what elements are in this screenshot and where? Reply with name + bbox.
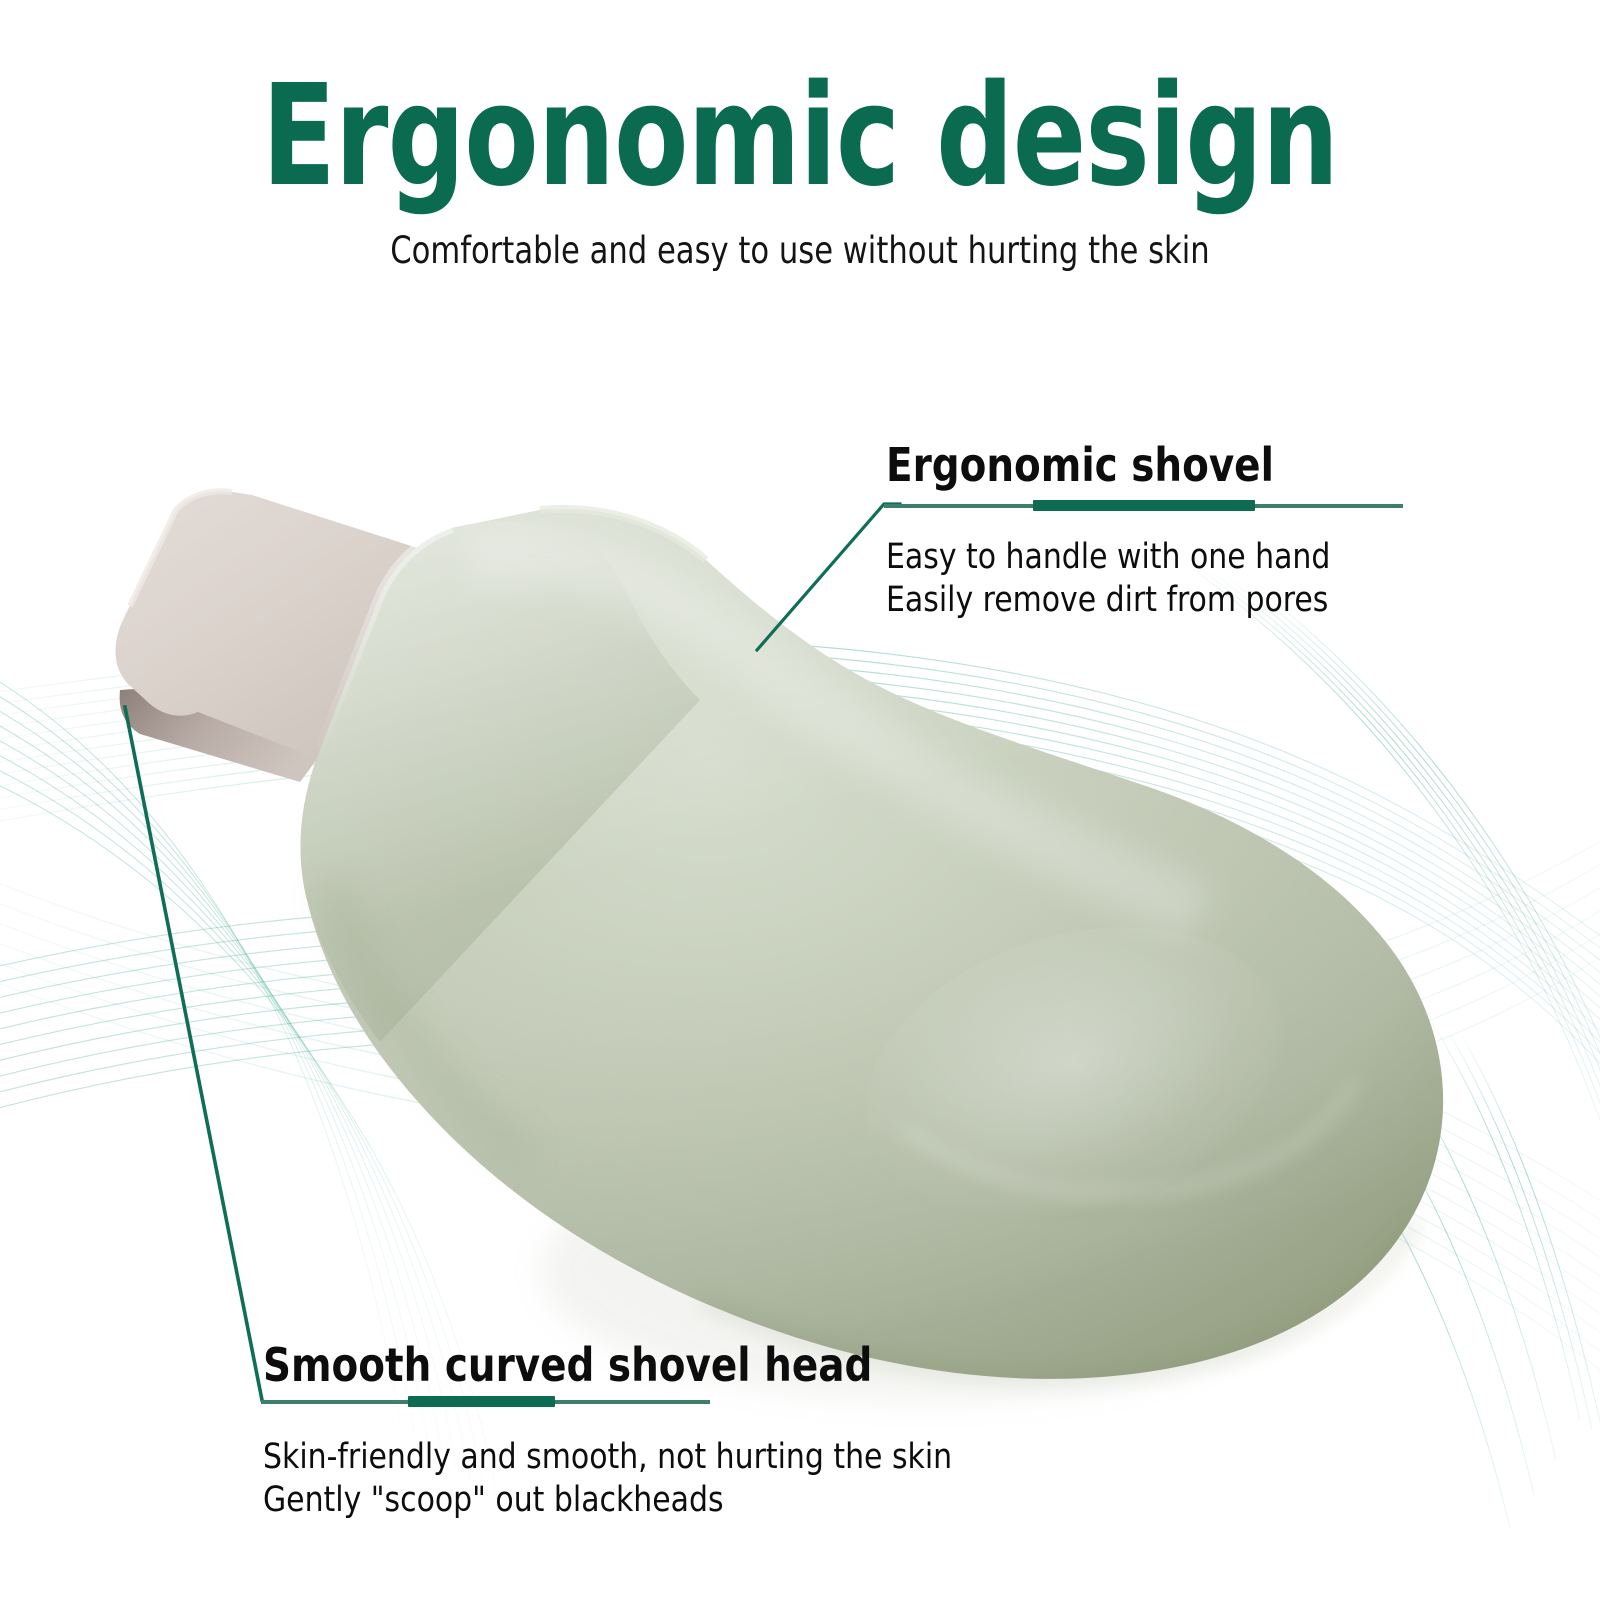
page-title: Ergonomic design: [112, 62, 1488, 212]
handle-body: [301, 509, 1444, 1379]
callout-body-line-2: Gently "scoop" out blackheads: [263, 1479, 724, 1522]
callout-rule-accent: [408, 1396, 555, 1407]
callout-body-line-1: Easy to handle with one hand: [886, 536, 1330, 579]
page-subtitle: Comfortable and easy to use without hurt…: [64, 228, 1536, 274]
product-infographic: Ergonomic design Comfortable and easy to…: [0, 0, 1600, 1600]
callout-title: Ergonomic shovel: [886, 438, 1274, 492]
callout-body-line-2: Easily remove dirt from pores: [886, 579, 1328, 622]
callout-title: Smooth curved shovel head: [263, 1338, 872, 1392]
callout-rule-accent: [1033, 500, 1255, 511]
callout-body-line-1: Skin-friendly and smooth, not hurting th…: [263, 1436, 952, 1479]
